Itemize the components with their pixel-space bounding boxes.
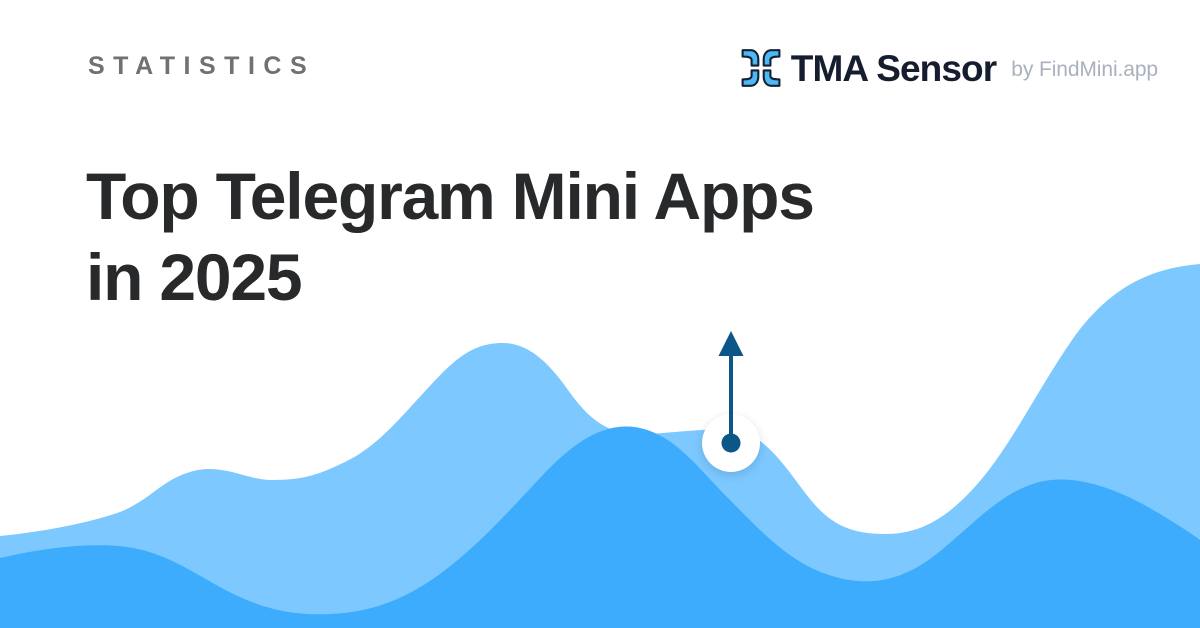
- og-card: STATISTICS Top Telegram Mini Apps in 202…: [0, 0, 1200, 628]
- brand-name: TMA Sensor: [791, 50, 997, 87]
- trend-up-arrow-icon: [702, 325, 760, 472]
- trend-marker: [702, 325, 760, 472]
- page-eyebrow: STATISTICS: [88, 54, 315, 79]
- brand-lockup[interactable]: TMA Sensor by FindMini.app: [740, 42, 1158, 94]
- page-title-line-1: Top Telegram Mini Apps: [86, 156, 926, 237]
- page-title-line-2: in 2025: [86, 237, 926, 318]
- brand-byline: by FindMini.app: [1011, 56, 1158, 80]
- page-title: Top Telegram Mini Apps in 2025: [86, 156, 926, 317]
- tma-sensor-logo-icon: [740, 47, 782, 89]
